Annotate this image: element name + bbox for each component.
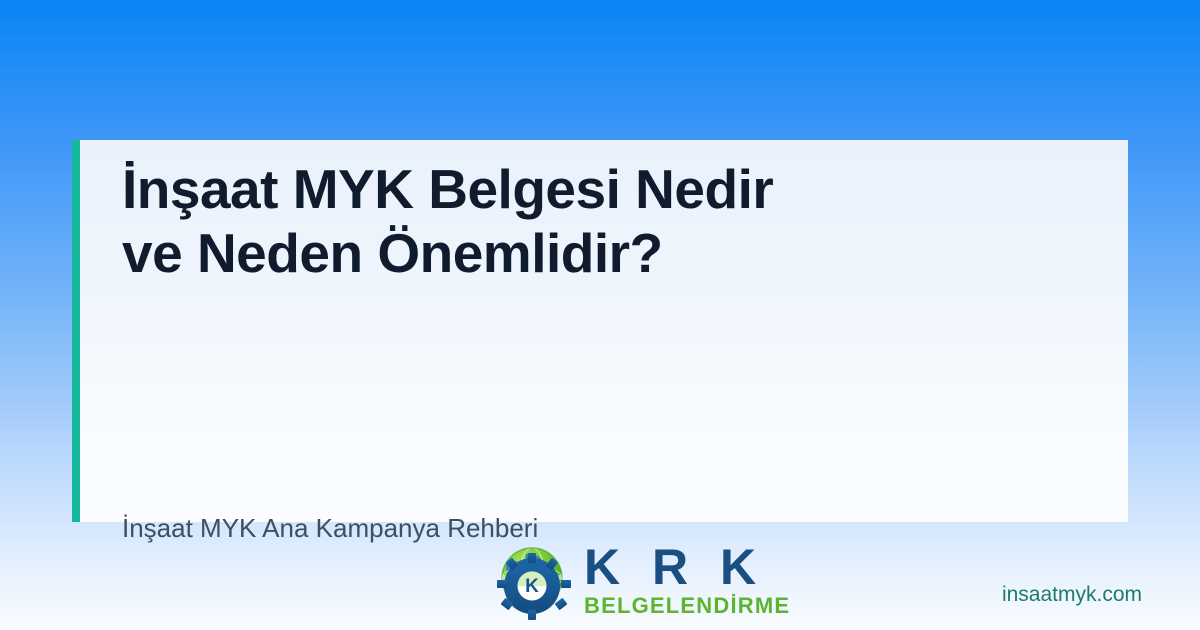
promo-banner: İnşaat MYK Belgesi Nedir ve Neden Önemli… (0, 0, 1200, 630)
hero-card: İnşaat MYK Belgesi Nedir ve Neden Önemli… (72, 140, 1128, 522)
accent-bar (72, 140, 80, 522)
brand-name: K R K (584, 544, 790, 591)
site-url[interactable]: insaatmyk.com (1002, 583, 1142, 607)
logo-letter-k: K (525, 576, 539, 597)
brand-wordmark: K R K BELGELENDİRME (584, 542, 790, 617)
brand-logo: K K R K BELGELENDİRME (486, 542, 790, 620)
page-title: İnşaat MYK Belgesi Nedir ve Neden Önemli… (122, 158, 1042, 286)
hero-card-body: İnşaat MYK Belgesi Nedir ve Neden Önemli… (80, 140, 1128, 522)
brand-tagline: BELGELENDİRME (584, 595, 790, 617)
globe-gear-logo-icon: K (486, 542, 582, 620)
